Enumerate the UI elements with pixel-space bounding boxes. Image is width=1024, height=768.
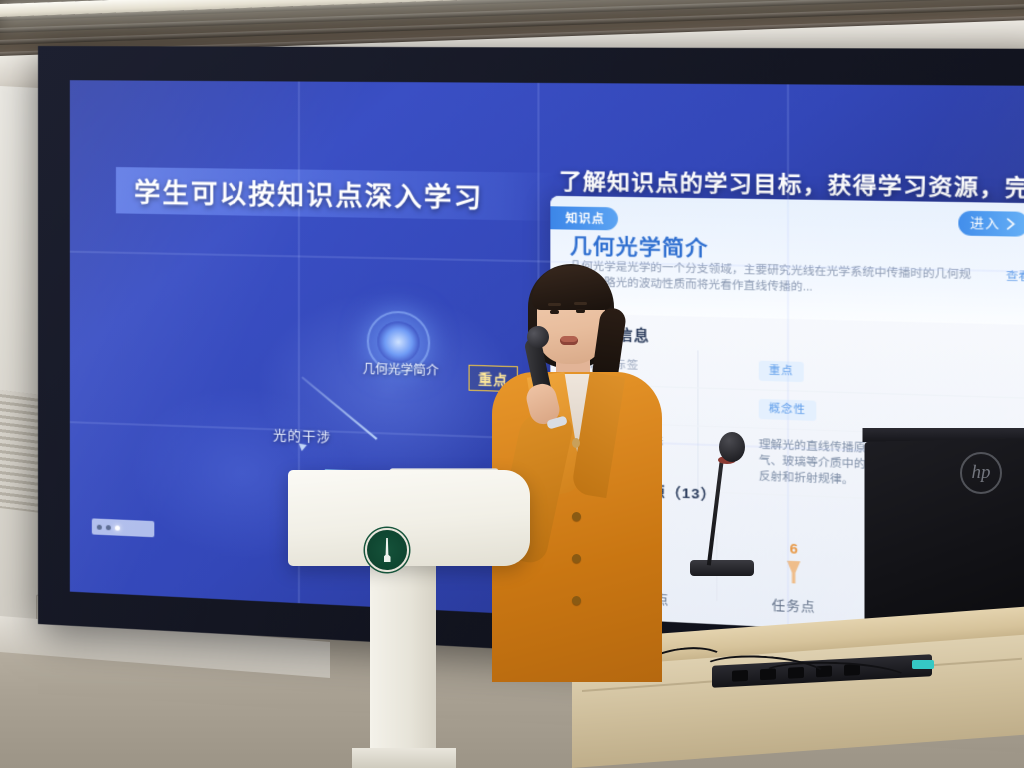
eye-left [550,310,559,314]
eyebrow-right [574,302,587,305]
coat-button [572,554,581,563]
university-emblem-icon [365,528,409,572]
funnel-icon [781,558,806,587]
coat-button [572,596,581,605]
eyebrow-left [548,303,561,306]
necklace-pendant [572,438,580,448]
podium-base [352,748,456,768]
hp-logo-icon: hp [960,452,1002,494]
podium [288,470,530,566]
slide-left-title: 学生可以按知识点深入学习 [116,172,484,215]
photo-scene: 学生可以按知识点深入学习 了解知识点的学习目标，获得学习资源，完成学习任务 几何… [0,0,1024,768]
knowledge-point-badge: 知识点 [550,206,618,230]
mouth [560,336,578,345]
slide-title-band: 学生可以按知识点深入学习 [116,167,555,221]
knowledge-node-label: 几何光学简介 [358,361,443,378]
desk-microphone-icon [719,432,745,462]
chevron-right-icon [1006,218,1017,230]
podium-column [370,560,436,760]
enter-button-label: 进入 [970,214,1000,233]
enter-button[interactable]: 进入 [958,211,1024,237]
presenter [492,262,662,682]
status-badge: 重点 [759,361,804,383]
knowledge-node-glow[interactable] [377,321,419,363]
slide-playback-controls[interactable] [92,518,154,537]
eye-right [576,309,585,313]
teal-label-tag [912,660,934,669]
stat-label: 任务点 [772,596,816,616]
knowledge-node-label-secondary: 光的干涉 [273,424,331,446]
coat-button [572,512,581,521]
stat-value: 6 [790,541,798,557]
knowledge-point-title: 几何光学简介 [570,230,709,263]
microphone-base [690,560,754,576]
